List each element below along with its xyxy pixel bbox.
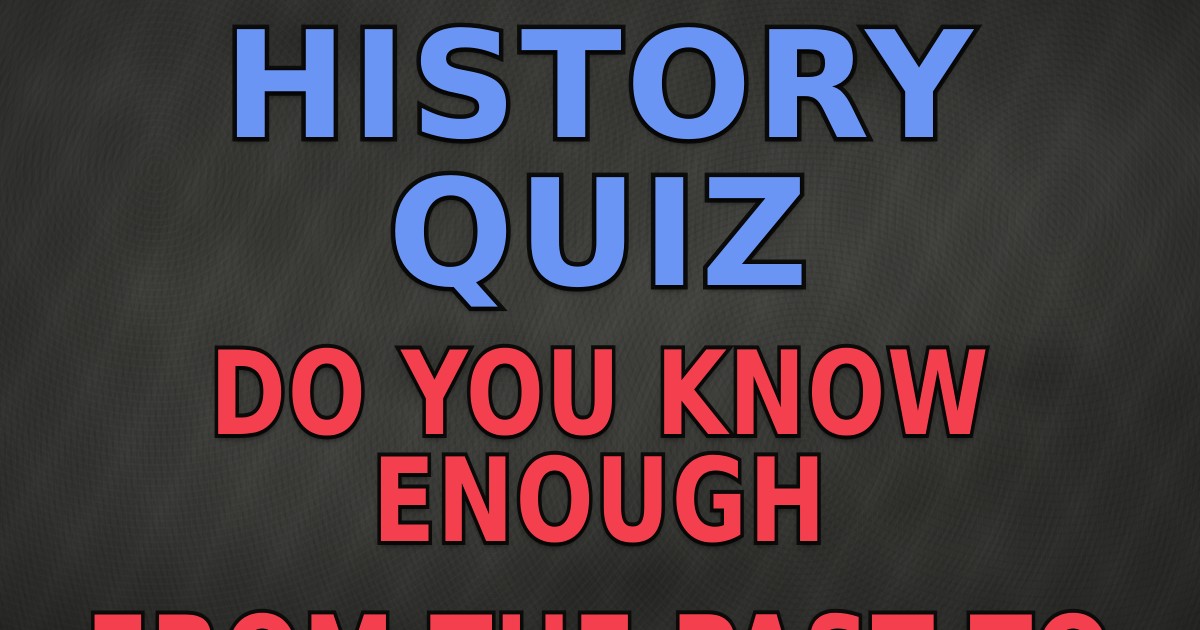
poster-subtitle: DO YOU KNOW ENOUGH FROM THE PAST TO SCOR… xyxy=(0,342,1200,630)
poster-title: HISTORY QUIZ xyxy=(0,12,1200,308)
quiz-promo-poster: HISTORY QUIZ DO YOU KNOW ENOUGH FROM THE… xyxy=(0,0,1200,630)
subtitle-line-1: DO YOU KNOW ENOUGH xyxy=(72,342,1128,555)
subtitle-line-2: FROM THE PAST TO xyxy=(72,607,1128,630)
poster-content: HISTORY QUIZ DO YOU KNOW ENOUGH FROM THE… xyxy=(0,0,1200,630)
